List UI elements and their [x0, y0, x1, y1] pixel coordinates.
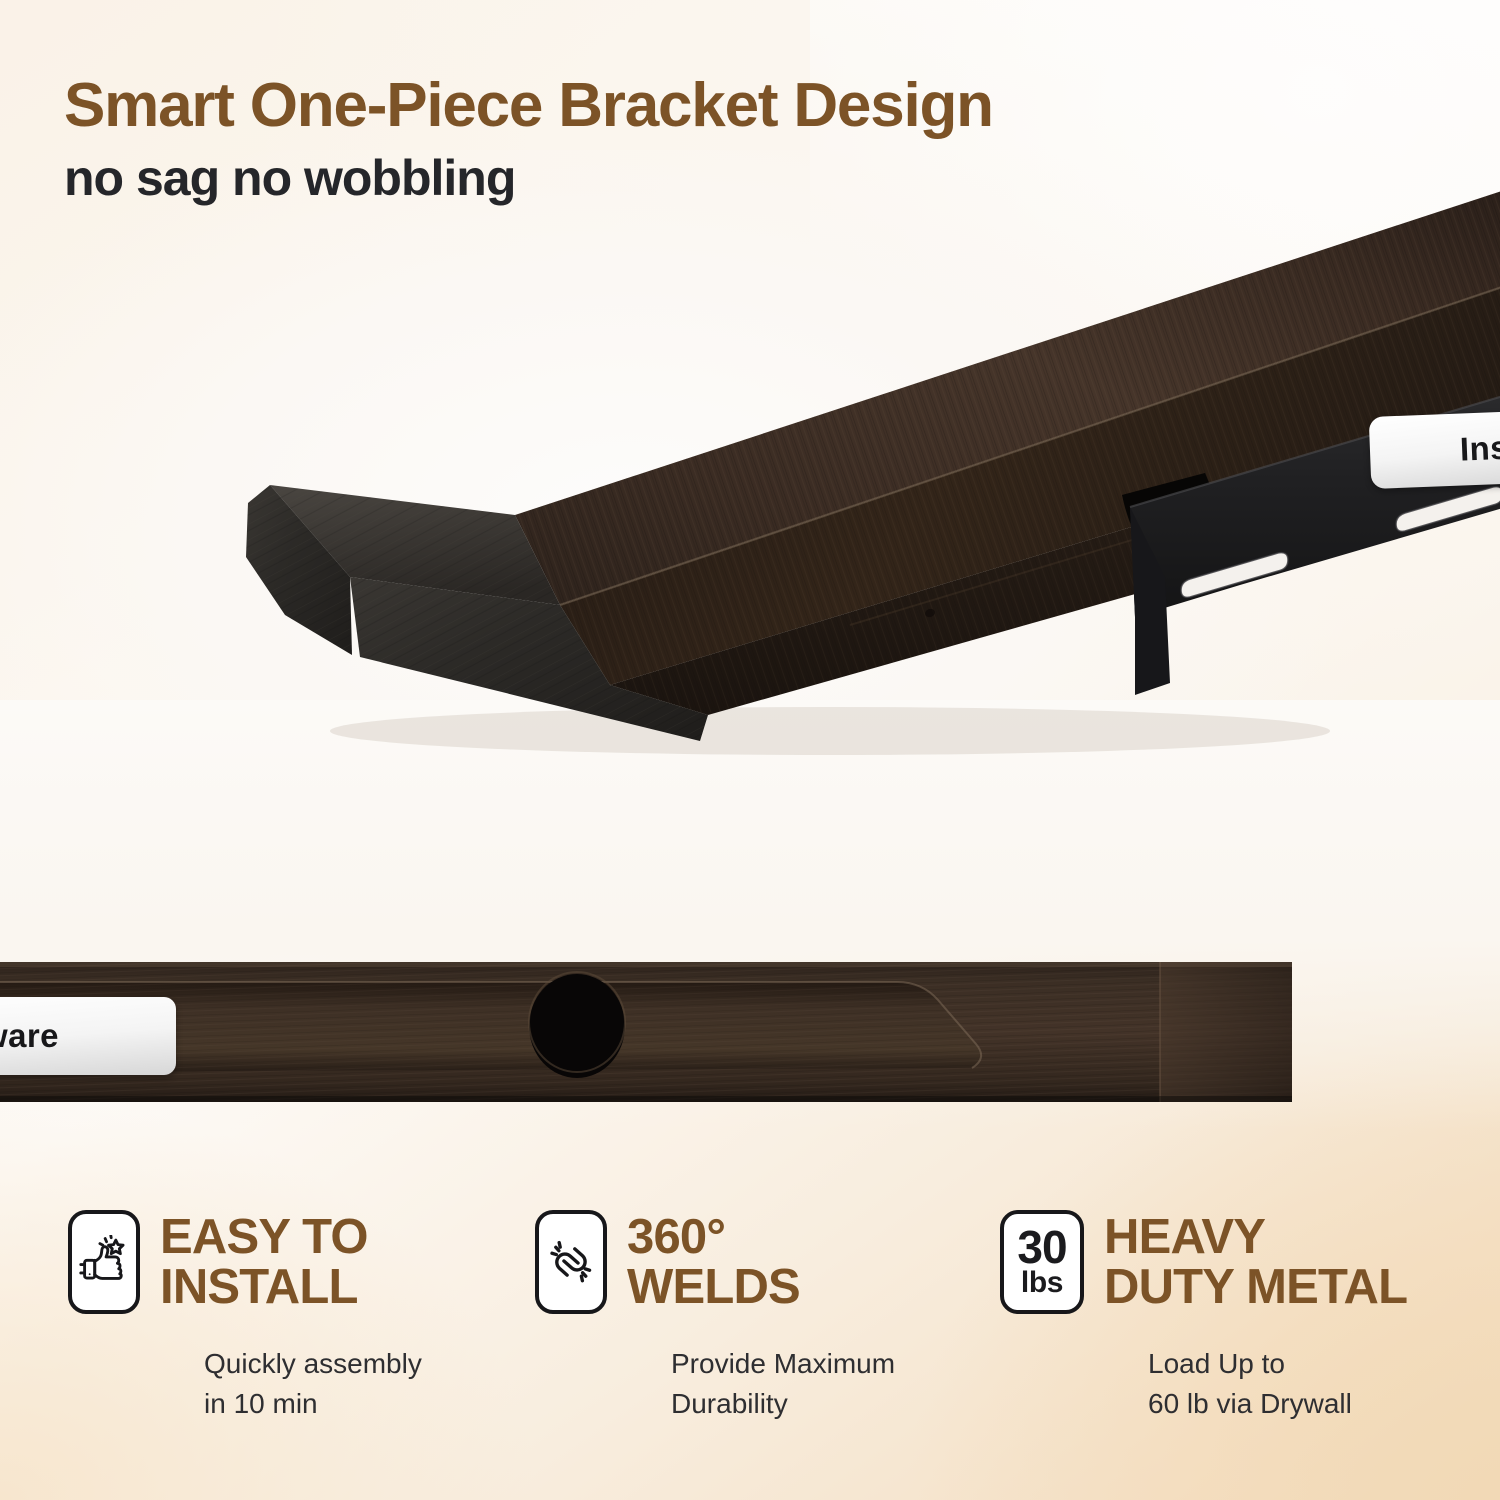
feature-heavy-duty-metal: 30 lbs HEAVY DUTY METAL Load Up to 60 lb…	[1000, 1210, 1407, 1424]
feature-header: 30 lbs HEAVY DUTY METAL	[1000, 1210, 1407, 1314]
hardware-label-strip: ware	[0, 997, 176, 1075]
page-title: Smart One-Piece Bracket Design	[64, 74, 993, 138]
shelf-underside-photo: ware	[0, 952, 1292, 1124]
feature-360-welds: 360° WELDS Provide Maximum Durability	[535, 1210, 895, 1424]
thumbs-up-star-icon	[68, 1210, 140, 1314]
shelf-illustration	[230, 185, 1500, 760]
shelf-underside-illustration	[0, 952, 1292, 1124]
feature-title: HEAVY DUTY METAL	[1104, 1210, 1407, 1313]
weight-badge-unit: lbs	[1021, 1268, 1063, 1298]
heading-block: Smart One-Piece Bracket Design no sag no…	[64, 74, 993, 204]
hero-shelf-photo: Ins	[230, 185, 1500, 760]
chain-link-weld-icon	[535, 1210, 607, 1314]
feature-description: Provide Maximum Durability	[671, 1344, 895, 1424]
hardware-label-hero: Ins	[1369, 409, 1500, 489]
weight-badge-icon: 30 lbs	[1000, 1210, 1084, 1314]
feature-easy-to-install: EASY TO INSTALL Quickly assembly in 10 m…	[68, 1210, 422, 1424]
weight-badge-number: 30	[1017, 1226, 1066, 1268]
feature-description: Load Up to 60 lb via Drywall	[1148, 1344, 1407, 1424]
feature-title: 360° WELDS	[627, 1210, 800, 1313]
feature-row: EASY TO INSTALL Quickly assembly in 10 m…	[0, 1210, 1500, 1440]
feature-header: 360° WELDS	[535, 1210, 895, 1314]
feature-description: Quickly assembly in 10 min	[204, 1344, 422, 1424]
feature-header: EASY TO INSTALL	[68, 1210, 422, 1314]
feature-title: EASY TO INSTALL	[160, 1210, 368, 1313]
page-subtitle: no sag no wobbling	[64, 152, 993, 204]
